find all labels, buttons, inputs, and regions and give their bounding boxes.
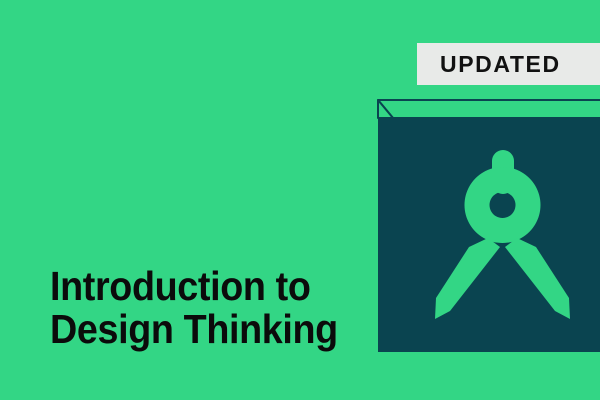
page-title-line-2: Design Thinking bbox=[50, 308, 344, 351]
page-title-line-1: Introduction to bbox=[50, 265, 344, 308]
status-badge-label: UPDATED bbox=[440, 53, 561, 76]
book-top-face bbox=[378, 100, 600, 118]
status-badge: UPDATED bbox=[417, 43, 600, 85]
page-title: Introduction to Design Thinking bbox=[50, 265, 370, 351]
book-illustration bbox=[370, 92, 600, 360]
course-card: UPDATED Introduction to De bbox=[0, 0, 600, 400]
